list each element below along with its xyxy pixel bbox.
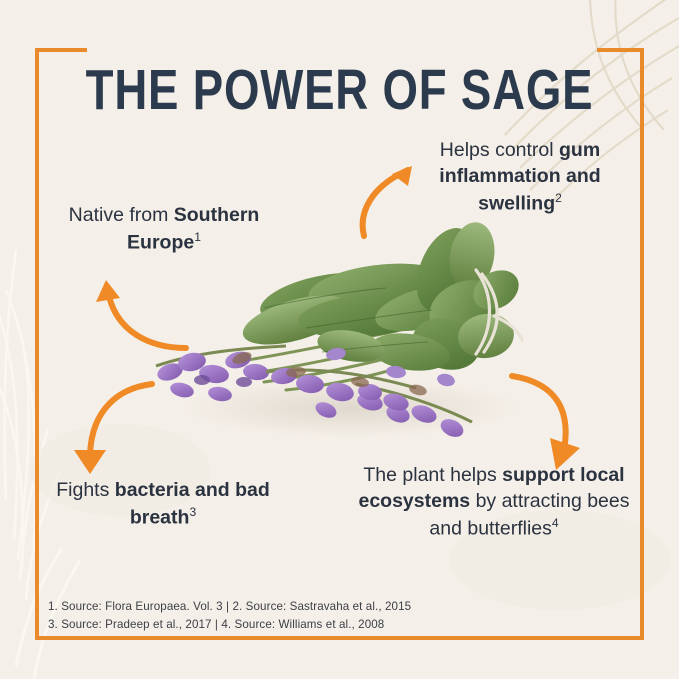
callout-bacteria-footnote-ref: 3 [189, 505, 196, 519]
callout-bacteria-bad-breath: Fights bacteria and bad breath3 [38, 478, 288, 531]
callout-bacteria-bold: bacteria and bad breath [115, 479, 270, 528]
infographic-canvas: THE POWER OF SAGE [0, 0, 679, 679]
callout-local-ecosystems: The plant helps support local ecosystems… [358, 463, 630, 542]
callout-ecosystem-lead: The plant helps [363, 464, 502, 486]
footnote-line-2: 3. Source: Pradeep et al., 2017 | 4. Sou… [48, 616, 411, 634]
callout-native-origin: Native from Southern Europe1 [58, 203, 270, 256]
frame-border-left [35, 48, 39, 640]
callout-native-footnote-ref: 1 [194, 230, 201, 244]
callout-native-lead: Native from [69, 204, 174, 226]
callout-gum-footnote-ref: 2 [555, 191, 562, 205]
callout-gum-lead: Helps control [440, 139, 559, 161]
page-title: THE POWER OF SAGE [68, 60, 611, 122]
frame-border-bottom [183, 636, 496, 640]
curved-arrow-down-left-icon [56, 378, 156, 482]
frame-corner-top-left [35, 48, 87, 52]
frame-border-right [640, 48, 644, 640]
footnote-line-1: 1. Source: Flora Europaea. Vol. 3 | 2. S… [48, 598, 411, 616]
callout-bacteria-lead: Fights [56, 479, 115, 501]
callout-ecosystem-footnote-ref: 4 [552, 516, 559, 530]
frame-corner-top-right [597, 48, 644, 52]
frame-corner-bottom-right [494, 636, 644, 640]
frame-corner-bottom-left [35, 636, 185, 640]
callout-gum-inflammation: Helps control gum inflammation and swell… [404, 138, 636, 217]
footnotes-block: 1. Source: Flora Europaea. Vol. 3 | 2. S… [48, 598, 411, 633]
